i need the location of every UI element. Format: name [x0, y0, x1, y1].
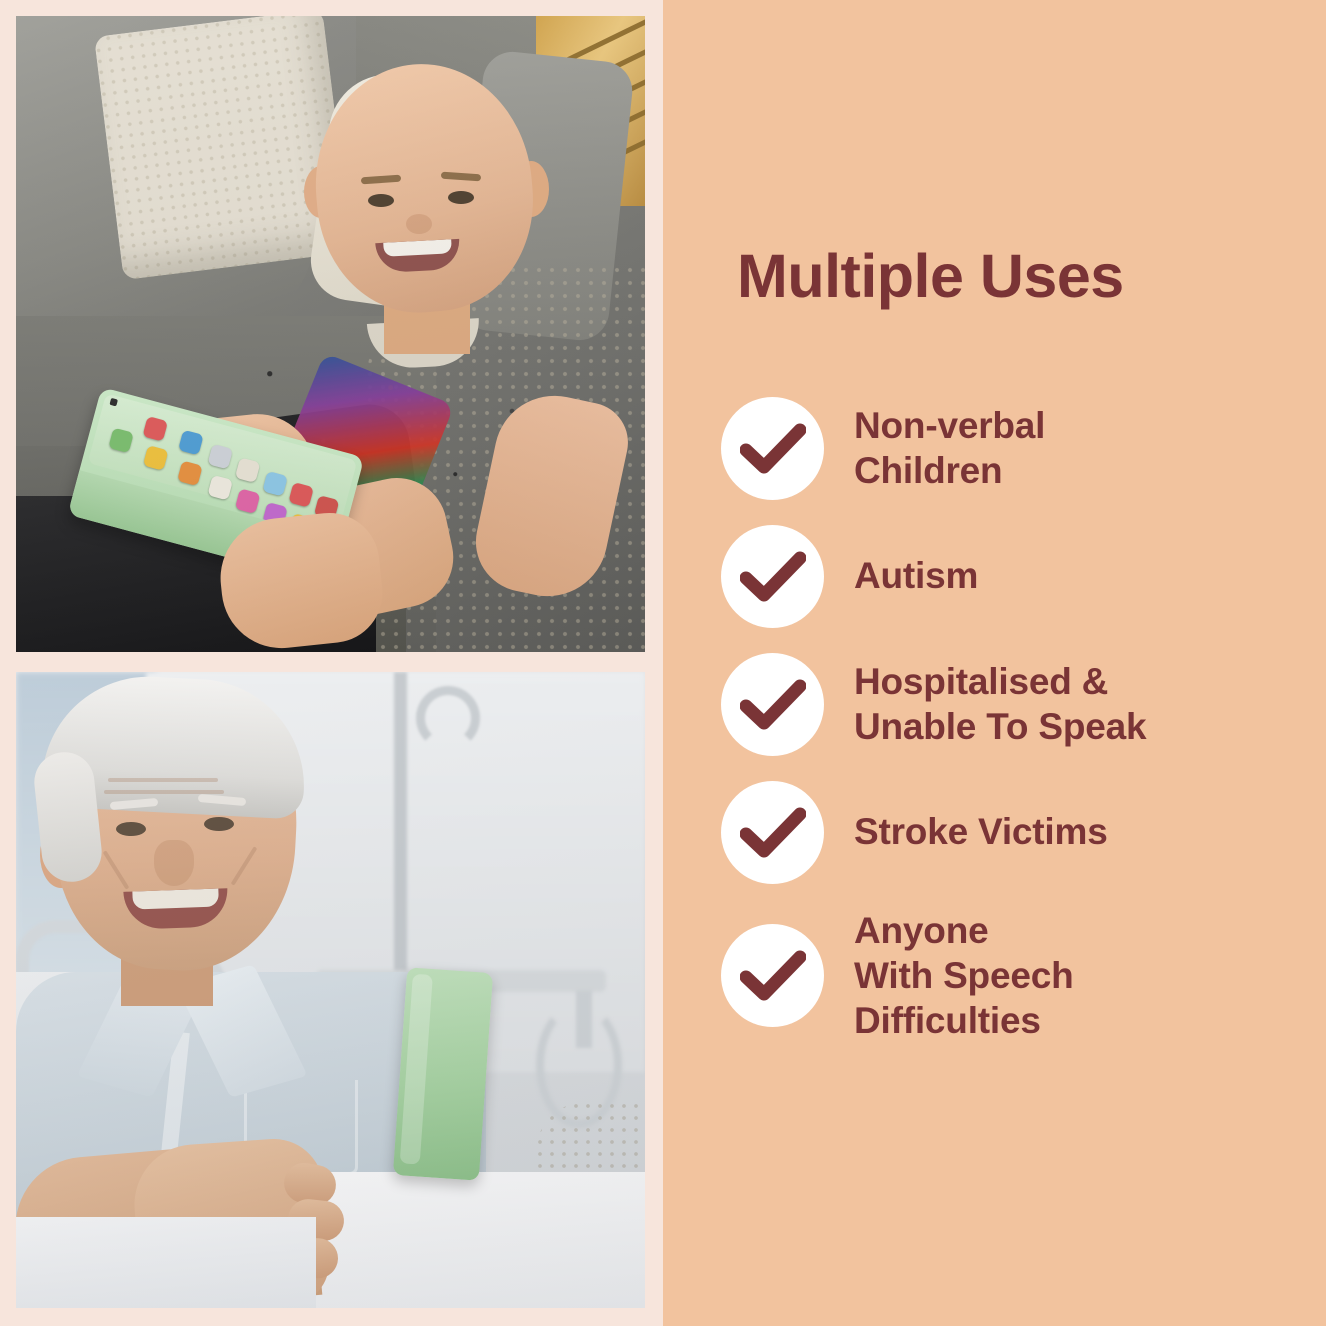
- check-icon: [721, 397, 824, 500]
- list-item-label: Anyone With Speech Difficulties: [854, 908, 1074, 1043]
- check-icon: [721, 924, 824, 1027]
- check-icon: [721, 781, 824, 884]
- uses-list: Non-verbal Children Autism Hospitalised …: [721, 396, 1326, 1067]
- list-item: Anyone With Speech Difficulties: [721, 908, 1326, 1043]
- photo-gloss: [16, 16, 645, 652]
- check-icon: [721, 525, 824, 628]
- check-icon: [721, 653, 824, 756]
- list-item-label: Non-verbal Children: [854, 403, 1045, 493]
- photo-boy-with-device: [16, 16, 645, 652]
- list-item-label: Hospitalised & Unable To Speak: [854, 659, 1146, 749]
- list-item-label: Autism: [854, 553, 978, 598]
- list-item: Autism: [721, 524, 1326, 628]
- list-item: Hospitalised & Unable To Speak: [721, 652, 1326, 756]
- list-item: Non-verbal Children: [721, 396, 1326, 500]
- list-item-label: Stroke Victims: [854, 809, 1108, 854]
- multiple-uses-panel: Multiple Uses Non-verbal Children Autism: [663, 0, 1326, 1326]
- list-item: Stroke Victims: [721, 780, 1326, 884]
- photo-elderly-man-with-device: [16, 672, 645, 1308]
- page-title: Multiple Uses: [737, 246, 1297, 307]
- promo-graphic: Multiple Uses Non-verbal Children Autism: [0, 0, 1326, 1326]
- photo-gloss: [16, 672, 645, 1308]
